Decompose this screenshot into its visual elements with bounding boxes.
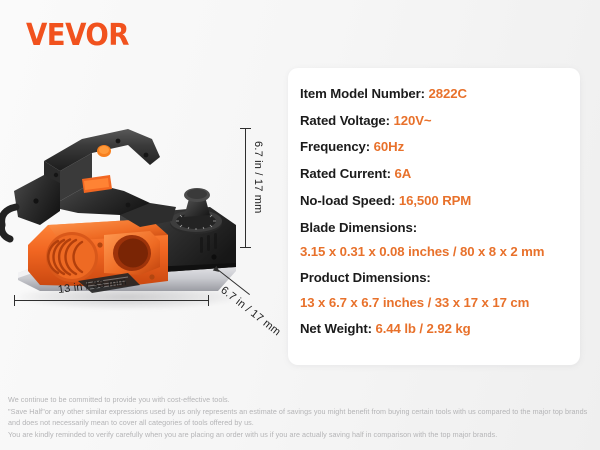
spec-value: 16,500 RPM	[399, 193, 471, 208]
spec-value: 2822C	[429, 86, 467, 101]
spec-label: Net Weight:	[300, 321, 372, 336]
spec-value: 6A	[395, 166, 412, 181]
spec-row-no-load-speed: No-load Speed: 16,500 RPM	[300, 194, 572, 207]
spec-row-rated-current: Rated Current: 6A	[300, 167, 572, 180]
spec-value: 6.44 lb / 2.92 kg	[376, 321, 471, 336]
specification-list: Item Model Number: 2822C Rated Voltage: …	[300, 87, 572, 336]
spec-row-item-model-number: Item Model Number: 2822C	[300, 87, 572, 100]
height-dimension-cap-top	[240, 128, 251, 129]
specification-card: Item Model Number: 2822C Rated Voltage: …	[288, 68, 580, 365]
spec-label: Frequency:	[300, 139, 370, 154]
spec-label: Item Model Number:	[300, 86, 425, 101]
width-dimension-cap-left	[14, 295, 15, 306]
spec-label: Rated Current:	[300, 166, 391, 181]
disclaimer-line-3: You are kindly reminded to verify carefu…	[8, 429, 594, 441]
product-image-area: 13 in / 33 mm 6.7 in / 17 mm 6.7 in / 17…	[0, 95, 300, 355]
spec-label: No-load Speed:	[300, 193, 395, 208]
spec-row-product-dimensions-value: 13 x 6.7 x 6.7 inches / 33 x 17 x 17 cm	[300, 296, 572, 309]
spec-value: 3.15 x 0.31 x 0.08 inches / 80 x 8 x 2 m…	[300, 244, 544, 259]
spec-value: 60Hz	[374, 139, 404, 154]
height-dimension-line	[245, 128, 246, 248]
spec-value: 120V~	[394, 113, 432, 128]
spec-row-rated-voltage: Rated Voltage: 120V~	[300, 114, 572, 127]
disclaimer-line-2: "Save Half"or any other similar expressi…	[8, 406, 594, 429]
width-dimension-line	[14, 300, 209, 301]
disclaimer-line-1: We continue to be committed to provide y…	[8, 394, 594, 406]
spec-label: Product Dimensions:	[300, 270, 431, 285]
spec-value: 13 x 6.7 x 6.7 inches / 33 x 17 x 17 cm	[300, 295, 529, 310]
spec-row-net-weight: Net Weight: 6.44 lb / 2.92 kg	[300, 322, 572, 335]
spec-row-blade-dimensions-value: 3.15 x 0.31 x 0.08 inches / 80 x 8 x 2 m…	[300, 245, 572, 258]
spec-label: Blade Dimensions:	[300, 220, 417, 235]
disclaimer-text: We continue to be committed to provide y…	[8, 394, 594, 441]
spec-row-frequency: Frequency: 60Hz	[300, 140, 572, 153]
height-dimension-label: 6.7 in / 17 mm	[252, 141, 264, 214]
spec-label: Rated Voltage:	[300, 113, 390, 128]
height-dimension-cap-bottom	[240, 247, 251, 248]
spec-row-product-dimensions-label: Product Dimensions:	[300, 271, 572, 284]
vevor-logo: VEVOR	[26, 18, 129, 53]
spec-row-blade-dimensions-label: Blade Dimensions:	[300, 221, 572, 234]
width-dimension-cap-right	[208, 295, 209, 306]
